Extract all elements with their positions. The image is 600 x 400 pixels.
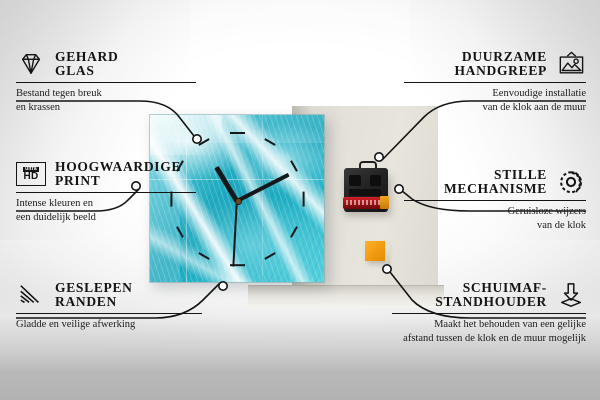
ultra-hd-icon: ultra HD bbox=[16, 162, 46, 186]
mechanism-dial-right bbox=[370, 175, 381, 186]
feature-title-line2: PRINT bbox=[55, 174, 181, 188]
mechanism-slot bbox=[349, 189, 381, 196]
battery-positive-cap bbox=[380, 196, 389, 209]
feature-geslepen-randen: GESLEPEN RANDEN Gladde en veilige afwerk… bbox=[16, 281, 202, 332]
feature-stille-mechanisme: STILLE MECHANISME Geruisloze wijzers van… bbox=[404, 168, 586, 232]
diamond-icon bbox=[16, 51, 46, 77]
feature-rule bbox=[16, 313, 202, 315]
feature-title-line1: HOOGWAARDIGE bbox=[55, 160, 181, 174]
mechanism-dial-left bbox=[349, 175, 361, 186]
picture-frame-icon bbox=[556, 51, 586, 77]
feature-title-line1: GESLEPEN bbox=[55, 281, 133, 295]
feature-rule bbox=[392, 313, 586, 315]
feature-rule bbox=[16, 192, 196, 194]
foam-spacer-side bbox=[385, 244, 390, 264]
feature-title-line1: SCHUIMAF- bbox=[435, 281, 547, 295]
feature-header: ultra HD HOOGWAARDIGE PRINT bbox=[16, 160, 196, 189]
feature-titles: GEHARD GLAS bbox=[55, 50, 118, 79]
feature-header: SCHUIMAF- STANDHOUDER bbox=[392, 281, 586, 310]
feature-titles: SCHUIMAF- STANDHOUDER bbox=[435, 281, 547, 310]
feature-title-line1: GEHARD bbox=[55, 50, 118, 64]
clock-tick bbox=[230, 132, 245, 134]
feature-description: Eenvoudige installatie van de klok aan d… bbox=[404, 87, 586, 114]
clock-tick bbox=[302, 191, 304, 206]
bevelled-edges-icon bbox=[16, 282, 46, 308]
feature-rule bbox=[16, 82, 196, 84]
feature-duurzame-handgreep: DUURZAME HANDGREEP Eenvoudige installati… bbox=[404, 50, 586, 114]
feature-description: Geruisloze wijzers van de klok bbox=[404, 205, 586, 232]
feature-titles: HOOGWAARDIGE PRINT bbox=[55, 160, 181, 189]
feature-title-line2: STANDHOUDER bbox=[435, 295, 547, 309]
feature-hoogwaardige-print: ultra HD HOOGWAARDIGE PRINT Intense kleu… bbox=[16, 160, 196, 224]
feature-header: GEHARD GLAS bbox=[16, 50, 196, 79]
clock-reflection-vertical-2 bbox=[262, 115, 263, 282]
feature-header: STILLE MECHANISME bbox=[404, 168, 586, 197]
feature-titles: DUURZAME HANDGREEP bbox=[454, 50, 547, 79]
feature-rule bbox=[404, 82, 586, 84]
feature-title-line1: STILLE bbox=[444, 168, 547, 182]
feature-titles: GESLEPEN RANDEN bbox=[55, 281, 133, 310]
foam-spacer bbox=[365, 241, 385, 261]
feature-description: Intense kleuren en een duidelijk beeld bbox=[16, 197, 196, 224]
feature-description: Gladde en veilige afwerking bbox=[16, 318, 202, 331]
gear-icon bbox=[556, 169, 586, 195]
battery-label-texture bbox=[346, 200, 380, 205]
feature-title-line2: GLAS bbox=[55, 64, 118, 78]
feature-titles: STILLE MECHANISME bbox=[444, 168, 547, 197]
feature-description: Maakt het behouden van een gelijke afsta… bbox=[392, 318, 586, 345]
feature-description: Bestand tegen breuk en krassen bbox=[16, 87, 196, 114]
clock-center-hub bbox=[235, 198, 242, 205]
feature-header: DUURZAME HANDGREEP bbox=[404, 50, 586, 79]
feature-title-line2: RANDEN bbox=[55, 295, 133, 309]
feature-title-line1: DUURZAME bbox=[454, 50, 547, 64]
ultra-hd-icon-large-text: HD bbox=[23, 172, 38, 182]
press-down-icon bbox=[556, 282, 586, 308]
feature-header: GESLEPEN RANDEN bbox=[16, 281, 202, 310]
feature-rule bbox=[404, 200, 586, 202]
feature-schuimafstandhouder: SCHUIMAF- STANDHOUDER Maakt het behouden… bbox=[392, 281, 586, 345]
feature-gehard-glas: GEHARD GLAS Bestand tegen breuk en krass… bbox=[16, 50, 196, 114]
product-infographic: GEHARD GLAS Bestand tegen breuk en krass… bbox=[0, 0, 600, 400]
feature-title-line2: HANDGREEP bbox=[454, 64, 547, 78]
feature-title-line2: MECHANISME bbox=[444, 182, 547, 196]
